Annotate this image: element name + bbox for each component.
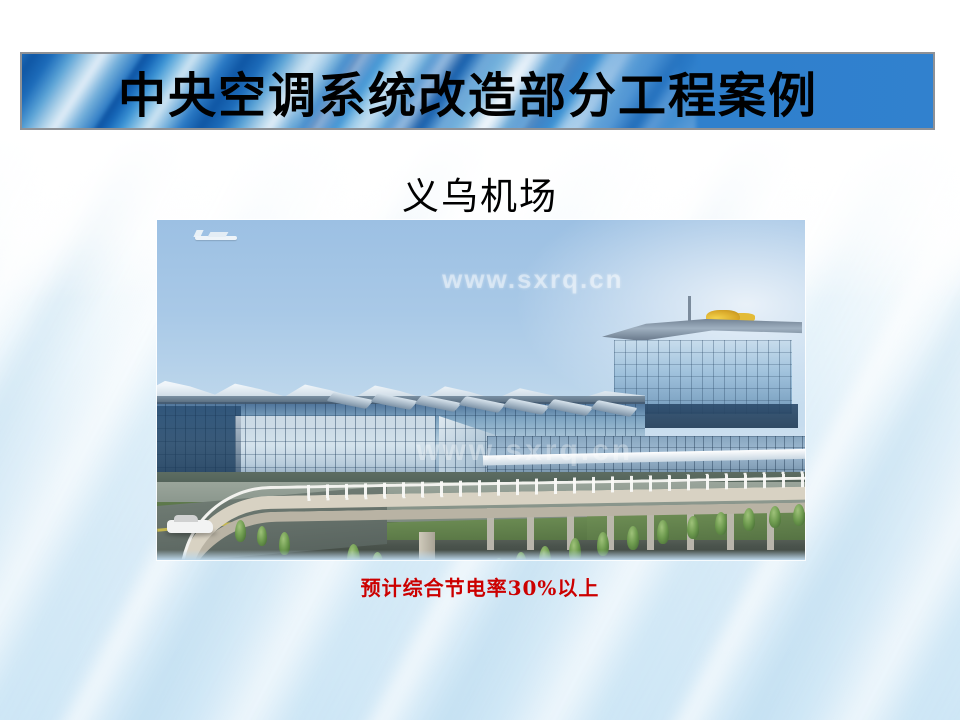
photo-bottom-fade	[157, 550, 805, 560]
car	[167, 520, 213, 533]
title-banner: 中央空调系统改造部分工程案例	[20, 52, 935, 130]
energy-saving-caption: 预计综合节电率30%以上	[0, 572, 960, 601]
airport-photo: www.sxrq.cn	[157, 220, 805, 560]
page-title: 中央空调系统改造部分工程案例	[22, 54, 933, 128]
subtitle: 义乌机场	[0, 166, 960, 220]
cars-layer	[157, 220, 805, 560]
slide-canvas: 中央空调系统改造部分工程案例 义乌机场 www.sxrq.cn	[0, 0, 960, 720]
